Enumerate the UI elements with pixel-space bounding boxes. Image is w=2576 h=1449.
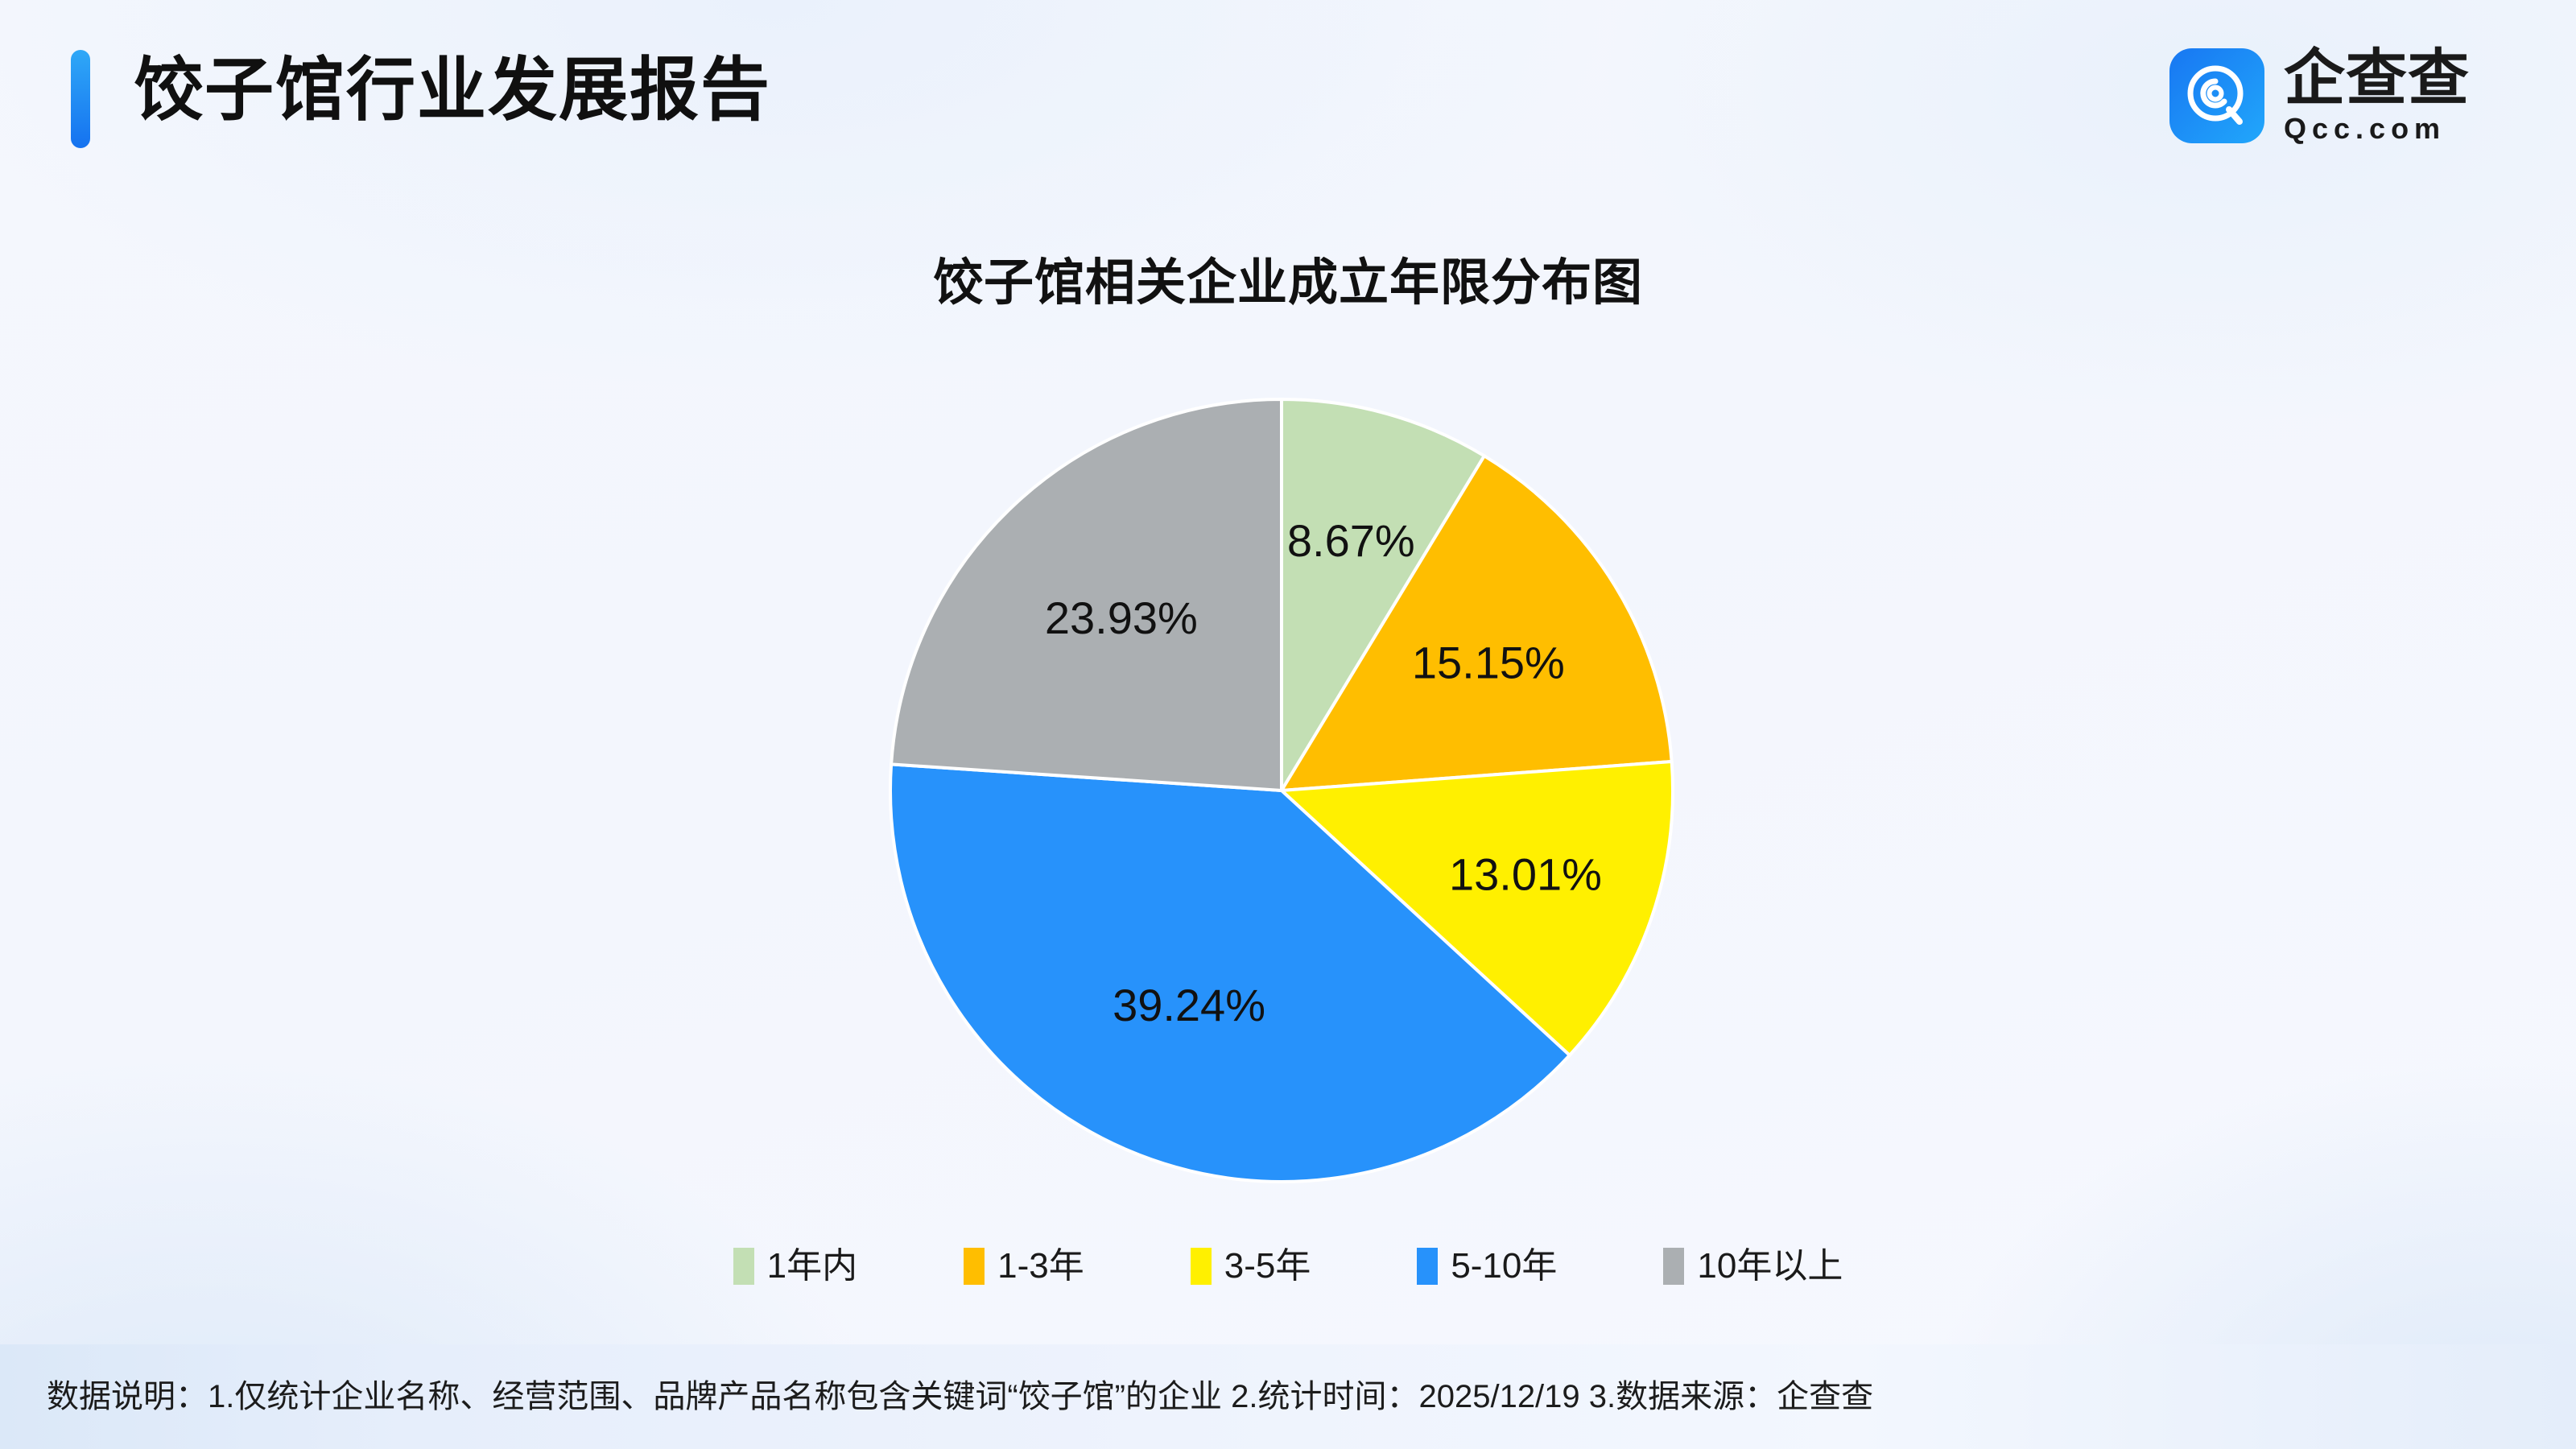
chart-legend: 1年内1-3年3-5年5-10年10年以上 — [0, 1246, 2576, 1286]
legend-item[interactable]: 5-10年 — [1417, 1246, 1557, 1286]
legend-label: 10年以上 — [1697, 1246, 1843, 1286]
qcc-logo-cn: 企查查 — [2284, 46, 2470, 112]
legend-item[interactable]: 1-3年 — [964, 1246, 1084, 1286]
page-title: 饺子馆行业发展报告 — [134, 42, 771, 138]
pie-slice-label: 15.15% — [1412, 637, 1565, 687]
pie-slice-label: 13.01% — [1449, 848, 1602, 899]
page-header: 饺子馆行业发展报告 企查查 Qcc.com — [0, 0, 2576, 201]
legend-label: 1年内 — [767, 1246, 857, 1286]
pie-slice-label: 23.93% — [1045, 592, 1198, 643]
legend-item[interactable]: 3-5年 — [1191, 1246, 1311, 1286]
legend-label: 5-10年 — [1451, 1246, 1557, 1286]
legend-item[interactable]: 10年以上 — [1663, 1246, 1843, 1286]
legend-label: 1-3年 — [997, 1246, 1084, 1286]
legend-swatch-icon — [1191, 1248, 1212, 1285]
title-accent-bar — [71, 50, 90, 148]
pie-chart-svg: 8.67%15.15%13.01%39.24%23.93% — [887, 396, 1676, 1185]
legend-swatch-icon — [1417, 1248, 1438, 1285]
legend-swatch-icon — [964, 1248, 985, 1285]
legend-label: 3-5年 — [1224, 1246, 1311, 1286]
legend-swatch-icon — [733, 1248, 754, 1285]
report-page: 饺子馆行业发展报告 企查查 Qcc.com 饺子馆相关企业成立年限分布图 — [0, 0, 2576, 1449]
legend-item[interactable]: 1年内 — [733, 1246, 857, 1286]
qcc-logo[interactable]: 企查查 Qcc.com — [2169, 43, 2470, 149]
legend-swatch-icon — [1663, 1248, 1684, 1285]
pie-slice-label: 39.24% — [1113, 980, 1265, 1030]
qcc-logo-en: Qcc.com — [2284, 112, 2470, 146]
chart-title: 饺子馆相关企业成立年限分布图 — [0, 242, 2576, 314]
data-note: 数据说明：1.仅统计企业名称、经营范围、品牌产品名称包含关键词“饺子馆”的企业 … — [47, 1378, 1873, 1415]
qcc-logo-text: 企查查 Qcc.com — [2284, 47, 2470, 144]
pie-chart: 8.67%15.15%13.01%39.24%23.93% — [887, 396, 1676, 1185]
qcc-logo-mark-icon — [2169, 48, 2264, 143]
pie-slice-label: 8.67% — [1287, 515, 1415, 566]
page-footer: 数据说明：1.仅统计企业名称、经营范围、品牌产品名称包含关键词“饺子馆”的企业 … — [0, 1344, 2576, 1449]
